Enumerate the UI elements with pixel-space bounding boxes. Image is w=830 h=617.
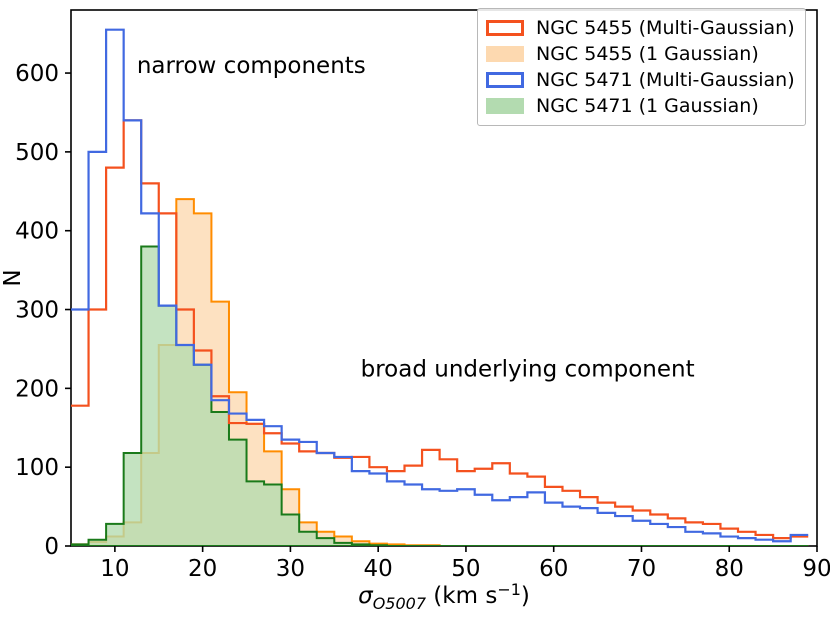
x-tick-label: 10 [100, 556, 129, 582]
x-tick-label: 30 [276, 556, 305, 582]
x-tick-label: 90 [802, 556, 830, 582]
legend-swatch-outline-blue [486, 72, 524, 88]
x-tick-label: 20 [188, 556, 217, 582]
legend-item: NGC 5471 (Multi-Gaussian) [486, 67, 795, 93]
annotation-broad: broad underlying component [361, 357, 695, 383]
legend-label: NGC 5455 (Multi-Gaussian) [536, 17, 795, 39]
legend-label: NGC 5471 (1 Gaussian) [536, 95, 759, 117]
x-tick-label: 60 [539, 556, 568, 582]
svg-text:σO5007 (km s−1): σO5007 (km s−1) [358, 580, 530, 613]
legend-label: NGC 5455 (1 Gaussian) [536, 43, 759, 65]
y-tick-label: 400 [15, 219, 59, 245]
y-tick-label: 100 [15, 455, 59, 481]
x-axis-label: σO5007 (km s−1) [358, 580, 530, 613]
legend-swatch-fill-green [486, 98, 524, 114]
y-tick-label: 200 [15, 376, 59, 402]
legend-label: NGC 5471 (Multi-Gaussian) [536, 69, 795, 91]
x-tick-label: 50 [451, 556, 480, 582]
y-tick-label: 600 [15, 61, 59, 87]
y-tick-label: 300 [15, 298, 59, 324]
annotation-narrow: narrow components [137, 53, 366, 79]
y-axis-label: N [0, 269, 26, 286]
figure-canvas: 1020304050607080900100200300400500600NσO… [0, 0, 830, 617]
legend-swatch-fill-peach [486, 46, 524, 62]
legend-item: NGC 5455 (1 Gaussian) [486, 41, 795, 67]
y-tick-label: 500 [15, 140, 59, 166]
x-tick-label: 70 [627, 556, 656, 582]
x-tick-label: 80 [715, 556, 744, 582]
y-tick-label: 0 [44, 534, 59, 560]
legend-swatch-outline-orange [486, 20, 524, 36]
x-tick-label: 40 [364, 556, 393, 582]
legend-item: NGC 5471 (1 Gaussian) [486, 93, 795, 119]
legend: NGC 5455 (Multi-Gaussian)NGC 5455 (1 Gau… [477, 8, 806, 126]
legend-item: NGC 5455 (Multi-Gaussian) [486, 15, 795, 41]
